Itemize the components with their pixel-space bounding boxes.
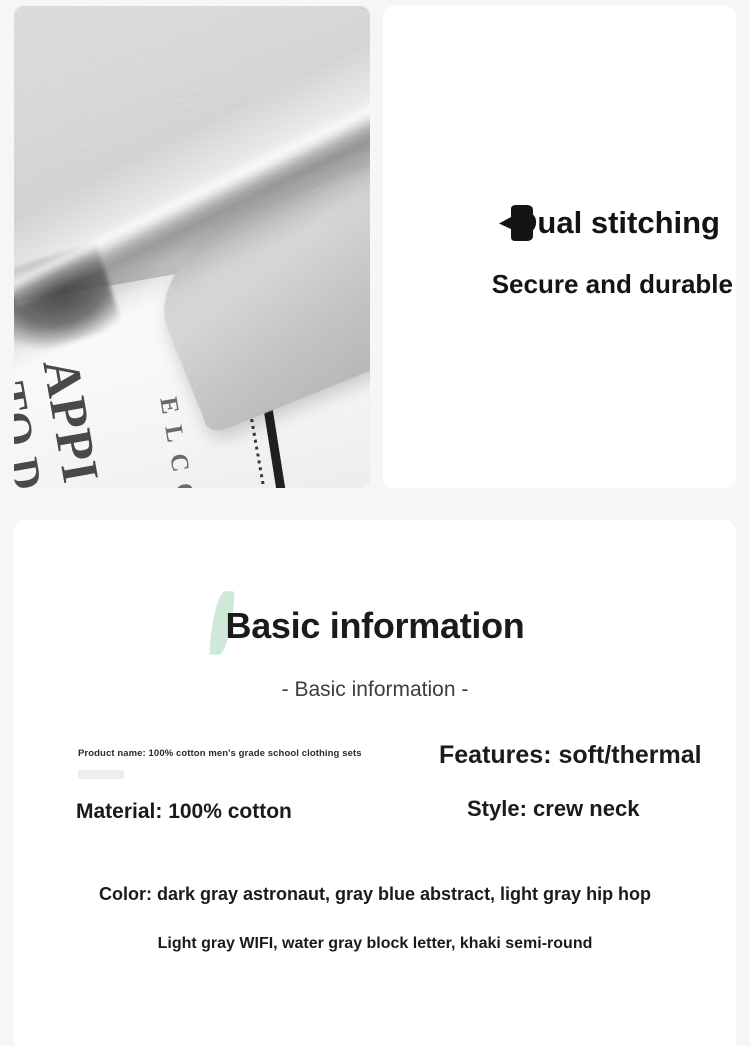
dual-stitching-card: Dual stitching Secure and durable xyxy=(383,6,736,488)
basic-information-heading-text: Basic information xyxy=(226,605,525,646)
spec-style: Style: crew neck xyxy=(467,796,639,822)
spec-smudge-artifact xyxy=(78,770,124,779)
magazine-text-line-3: ELCO xyxy=(153,395,201,488)
dual-stitching-title-row: Dual stitching xyxy=(383,204,736,242)
spec-features: Features: soft/thermal xyxy=(439,741,702,770)
basic-information-heading-wrap: Basic information xyxy=(14,608,736,700)
spec-grid: Product name: 100% cotton men's grade sc… xyxy=(14,748,736,868)
spec-material: Material: 100% cotton xyxy=(76,800,292,824)
spec-color-line-2: Light gray WIFI, water gray block letter… xyxy=(14,935,736,953)
top-section: TO D APPI ELCO Dual stit xyxy=(0,0,750,495)
basic-information-heading: Basic information xyxy=(226,608,525,644)
product-detail-page: TO D APPI ELCO Dual stit xyxy=(0,0,750,1046)
dual-stitching-title: Dual stitching xyxy=(515,205,720,241)
spec-color-line-1: Color: dark gray astronaut, gray blue ab… xyxy=(14,884,736,905)
basic-information-card: Basic information - Basic information - … xyxy=(14,520,736,1046)
product-photo-card[interactable]: TO D APPI ELCO xyxy=(14,6,370,488)
fabric-photo: TO D APPI ELCO xyxy=(14,6,370,488)
spec-product-name: Product name: 100% cotton men's grade sc… xyxy=(78,748,362,759)
dual-stitching-subtitle: Secure and durable xyxy=(492,269,733,300)
